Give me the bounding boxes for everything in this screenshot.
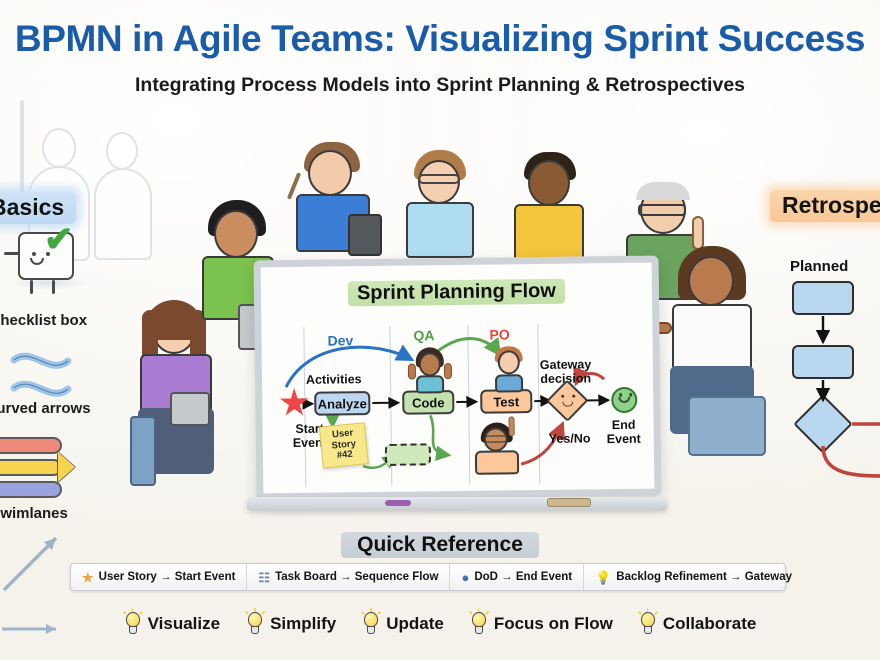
tip-label: Visualize xyxy=(148,614,220,634)
swimlane-arrow-icon xyxy=(58,452,75,482)
quick-ref-item-task-board[interactable]: ☷ Task Board → Sequence Flow xyxy=(246,564,449,590)
section-badge-retrospective: Retrospective xyxy=(770,190,880,222)
quick-reference-heading-text: Quick Reference xyxy=(341,532,539,558)
quick-ref-item-label: User Story → Start Event xyxy=(99,571,236,583)
board-icon: ☷ xyxy=(258,571,270,584)
gateway-eye-icon xyxy=(572,395,575,398)
marker-icon xyxy=(385,500,411,506)
label-end-event: End Event xyxy=(607,418,641,446)
quick-ref-item-label: Backlog Refinement → Gateway xyxy=(616,571,792,583)
quick-reference-heading: Quick Reference xyxy=(0,533,880,557)
lightbulb-icon xyxy=(470,612,487,636)
tips-row: Visualize Simplify Update xyxy=(0,612,880,636)
tip-collaborate[interactable]: Collaborate xyxy=(639,612,757,636)
lightbulb-icon xyxy=(639,612,656,636)
lightbulb-icon xyxy=(124,612,141,636)
task-analyze[interactable]: Analyze xyxy=(314,391,370,416)
swimlane-bar xyxy=(0,481,62,498)
lightbulb-icon xyxy=(246,612,263,636)
swimlane-bar xyxy=(0,459,62,476)
quick-reference-bar: ★ User Story → Start Event ☷ Task Board … xyxy=(70,563,786,591)
page-title: BPMN in Agile Teams: Visualizing Sprint … xyxy=(0,18,880,60)
gateway-eye-icon xyxy=(561,395,564,398)
bulb-icon: 💡 xyxy=(595,571,611,584)
swimlane-bar xyxy=(0,437,62,454)
quick-ref-item-label: Task Board → Sequence Flow xyxy=(275,571,438,583)
retro-connectors xyxy=(760,300,880,530)
tip-label: Focus on Flow xyxy=(494,614,613,634)
board-character-po xyxy=(488,346,531,393)
tip-update[interactable]: Update xyxy=(362,612,444,636)
checklist-arm-icon xyxy=(4,252,20,255)
checklist-leg-icon xyxy=(30,280,33,294)
lightbulb-icon xyxy=(362,612,379,636)
tip-label: Update xyxy=(386,614,444,634)
legend-caption-swimlanes: swimlanes xyxy=(0,505,68,522)
label-planned: Planned xyxy=(790,258,848,275)
person-illustration xyxy=(288,142,388,272)
star-icon: ★ xyxy=(82,571,94,584)
checkmark-icon: ✔ xyxy=(44,222,73,257)
legend-caption-checklist: checklist box xyxy=(0,312,87,329)
quick-ref-item-label: DoD → End Event xyxy=(474,571,572,583)
tip-visualize[interactable]: Visualize xyxy=(124,612,220,636)
quick-ref-item-backlog[interactable]: 💡 Backlog Refinement → Gateway xyxy=(583,564,803,590)
quick-ref-item-dod[interactable]: ● DoD → End Event xyxy=(449,564,583,590)
tip-label: Simplify xyxy=(270,614,336,634)
person-illustration xyxy=(400,150,492,270)
dashed-task-placeholder xyxy=(385,443,431,466)
task-test[interactable]: Test xyxy=(480,389,532,414)
marker-icon xyxy=(547,498,591,507)
ghost-figure-head xyxy=(106,132,138,170)
person-illustration xyxy=(510,152,602,272)
tip-label: Collaborate xyxy=(663,614,757,634)
badge-icon: ● xyxy=(461,571,469,584)
task-code[interactable]: Code xyxy=(402,390,454,415)
tip-focus-on-flow[interactable]: Focus on Flow xyxy=(470,612,613,636)
ghost-figure-body xyxy=(94,168,152,260)
label-activities: Activities xyxy=(306,372,362,387)
ghost-figure-head xyxy=(42,128,76,168)
legend-caption-curved-arrows: curved arrows xyxy=(0,400,91,417)
board-character-qa xyxy=(408,347,453,394)
board-character-dev xyxy=(469,422,526,469)
tip-simplify[interactable]: Simplify xyxy=(246,612,336,636)
infographic-canvas: BPMN in Agile Teams: Visualizing Sprint … xyxy=(0,0,880,660)
quick-ref-item-user-story[interactable]: ★ User Story → Start Event xyxy=(71,564,246,590)
sticky-note-user-story[interactable]: User Story #42 xyxy=(319,422,369,468)
whiteboard: Sprint Planning Flow Dev QA PO xyxy=(254,256,662,501)
page-subtitle: Integrating Process Models into Sprint P… xyxy=(0,74,880,97)
whiteboard-tray xyxy=(247,497,667,510)
label-yes-no: Yes/No xyxy=(549,431,591,446)
checklist-leg-icon xyxy=(52,280,55,294)
